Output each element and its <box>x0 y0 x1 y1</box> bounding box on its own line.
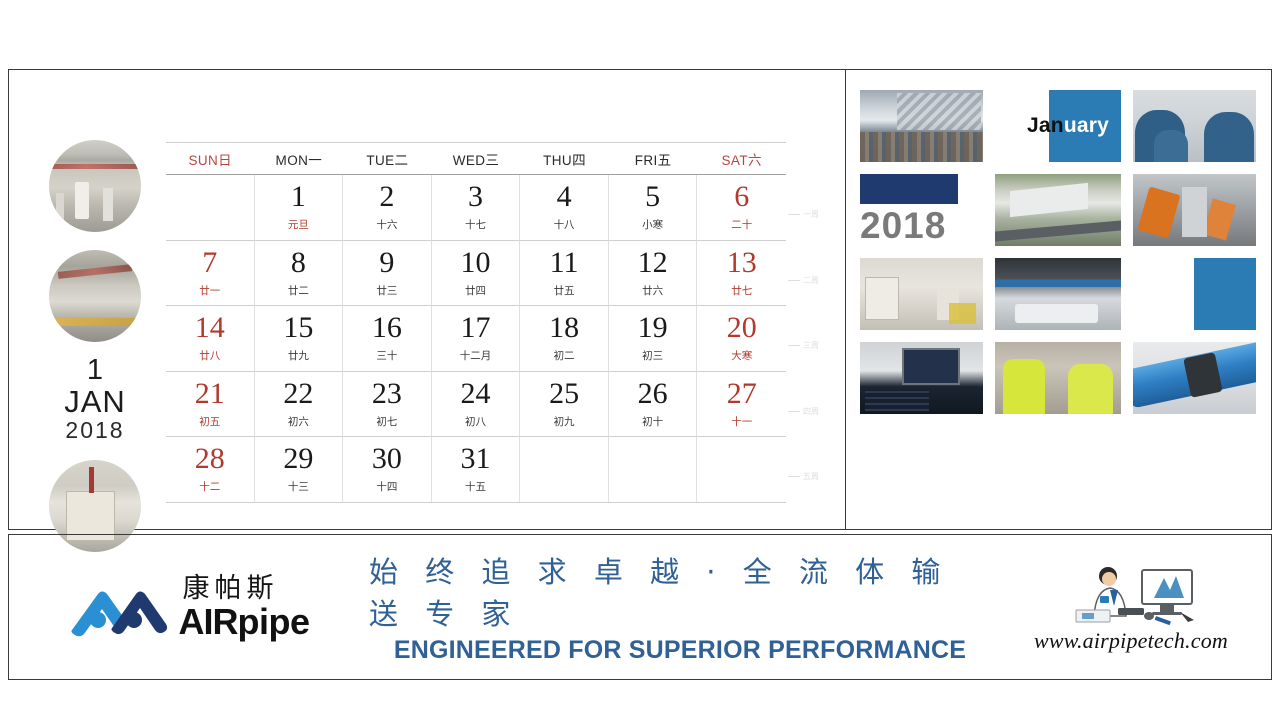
lunar-date-label: 初十 <box>642 414 663 429</box>
day-number: 26 <box>638 379 668 409</box>
calendar-day-cell[interactable]: 7廿一 <box>166 241 255 307</box>
january-label-light: uary <box>1064 114 1109 137</box>
day-number: 21 <box>195 379 225 409</box>
calendar-day-cell[interactable]: 1元旦 <box>255 175 344 241</box>
week-marker-3: 三周 <box>788 340 840 351</box>
calendar-day-cell[interactable]: 29十三 <box>255 437 344 503</box>
calendar-day-cell[interactable]: 30十四 <box>343 437 432 503</box>
day-number: 13 <box>727 248 757 278</box>
day-number: 1 <box>291 182 306 212</box>
month-number: 1 <box>35 356 155 385</box>
brand-name-chinese: 康帕斯 <box>178 575 309 602</box>
calendar-cell-empty <box>609 437 698 503</box>
airpipe-logo-icon <box>68 576 172 638</box>
calendar-day-cell[interactable]: 25初九 <box>520 372 609 438</box>
week-marker-dash-icon <box>788 411 800 412</box>
collage-year-label: 2018 <box>860 207 946 246</box>
slogan-chinese: 始 终 追 求 卓 越 · 全 流 体 输 送 专 家 <box>369 549 991 633</box>
robotic-assembly-photo <box>1133 174 1256 246</box>
calendar-day-cell[interactable]: 22初六 <box>255 372 344 438</box>
calendar-pane: 1 JAN 2018 SUN日MON一TUE二WED三THU四FRI五SAT六 … <box>9 70 846 529</box>
calendar-header-6: SAT六 <box>697 149 786 169</box>
calendar-day-cell[interactable]: 12廿六 <box>609 241 698 307</box>
day-number: 9 <box>379 248 394 278</box>
day-number: 14 <box>195 313 225 343</box>
calendar-header-2: TUE二 <box>343 149 432 169</box>
slogan-english: ENGINEERED FOR SUPERIOR PERFORMANCE <box>394 636 966 665</box>
day-number: 4 <box>557 182 572 212</box>
calendar-day-cell[interactable]: 19初三 <box>609 306 698 372</box>
week-number-markers: 一周二周三周四周五周 <box>788 175 840 515</box>
lunar-date-label: 初三 <box>642 348 663 363</box>
top-frame: 1 JAN 2018 SUN日MON一TUE二WED三THU四FRI五SAT六 … <box>8 69 1272 530</box>
calendar-day-cell[interactable]: 10廿四 <box>432 241 521 307</box>
lunar-date-label: 十一 <box>731 414 752 429</box>
navy-accent-block <box>860 174 958 204</box>
calendar-header-5: FRI五 <box>609 149 698 169</box>
brand-name-pipe: pipe <box>237 601 309 642</box>
lunar-date-label: 十三 <box>288 479 309 494</box>
calendar-day-cell[interactable]: 3十七 <box>432 175 521 241</box>
calendar-page: 1 JAN 2018 SUN日MON一TUE二WED三THU四FRI五SAT六 … <box>0 0 1280 720</box>
blue-accent-tile <box>1133 258 1256 330</box>
calendar-grid: SUN日MON一TUE二WED三THU四FRI五SAT六 1元旦2十六3十七4十… <box>166 142 786 512</box>
calendar-days-body: 1元旦2十六3十七4十八5小寒6二十7廿一8廿二9廿三10廿四11廿五12廿六1… <box>166 175 786 503</box>
lunar-date-label: 廿六 <box>642 283 663 298</box>
week-marker-dash-icon <box>788 476 800 477</box>
cleanroom-piping-photo <box>995 258 1121 330</box>
lunar-date-label: 二十 <box>731 217 752 232</box>
footer-bar: 康帕斯 AIRpipe 始 终 追 求 卓 越 · 全 流 体 输 送 专 家 … <box>8 534 1272 680</box>
photo-collage-pane: January 2018 <box>846 70 1271 529</box>
brand-name-english: AIRpipe <box>178 604 309 640</box>
lunar-date-label: 廿七 <box>731 283 752 298</box>
warehouse-staff-photo <box>995 342 1121 414</box>
website-zone: www.airpipetech.com <box>991 535 1271 679</box>
lunar-date-label: 初八 <box>465 414 486 429</box>
calendar-day-cell[interactable]: 28十二 <box>166 437 255 503</box>
brand-logo-zone: 康帕斯 AIRpipe <box>9 535 369 679</box>
calendar-header-1: MON一 <box>255 149 344 169</box>
week-marker-1: 一周 <box>788 209 840 220</box>
lunar-date-label: 十五 <box>465 479 486 494</box>
calendar-day-cell[interactable]: 18初二 <box>520 306 609 372</box>
day-number: 22 <box>283 379 313 409</box>
lunar-date-label: 十六 <box>376 217 397 232</box>
brand-wordmark: 康帕斯 AIRpipe <box>178 575 309 640</box>
brand-name-air: AIR <box>178 601 237 642</box>
lunar-date-label: 小寒 <box>642 217 663 232</box>
day-number: 19 <box>638 313 668 343</box>
production-line-photo <box>49 250 141 342</box>
lunar-date-label: 廿二 <box>288 283 309 298</box>
calendar-day-cell[interactable]: 24初八 <box>432 372 521 438</box>
calendar-day-cell[interactable]: 17十二月 <box>432 306 521 372</box>
week-marker-label: 三周 <box>803 340 819 351</box>
engineering-cad-photo <box>860 342 983 414</box>
photo-collage: January 2018 <box>860 90 1256 435</box>
lunar-date-label: 初九 <box>554 414 575 429</box>
lunar-date-label: 廿四 <box>465 283 486 298</box>
lunar-date-label: 十二 <box>199 479 220 494</box>
day-number: 10 <box>460 248 490 278</box>
calendar-day-cell[interactable]: 14廿八 <box>166 306 255 372</box>
lunar-date-label: 初五 <box>199 414 220 429</box>
calendar-day-cell[interactable]: 23初七 <box>343 372 432 438</box>
day-number: 15 <box>283 313 313 343</box>
day-number: 5 <box>645 182 660 212</box>
lunar-date-label: 十二月 <box>460 348 492 363</box>
lunar-date-label: 廿八 <box>199 348 220 363</box>
calendar-day-cell[interactable]: 26初十 <box>609 372 698 438</box>
sidebar-year: 2018 <box>35 419 155 442</box>
lunar-date-label: 十四 <box>376 479 397 494</box>
day-number: 29 <box>283 444 313 474</box>
day-number: 24 <box>460 379 490 409</box>
day-number: 6 <box>734 182 749 212</box>
week-marker-dash-icon <box>788 345 800 346</box>
calendar-day-cell[interactable]: 31十五 <box>432 437 521 503</box>
lunar-date-label: 大寒 <box>731 348 752 363</box>
lunar-date-label: 廿一 <box>199 283 220 298</box>
week-marker-dash-icon <box>788 214 800 215</box>
calendar-cell-empty <box>520 437 609 503</box>
calendar-day-cell[interactable]: 4十八 <box>520 175 609 241</box>
week-marker-5: 五周 <box>788 471 840 482</box>
month-abbreviation: JAN <box>35 386 155 417</box>
january-label-dark: Jan <box>1027 114 1064 137</box>
lunar-date-label: 初七 <box>376 414 397 429</box>
team-headquarters-photo <box>860 90 983 162</box>
blue-accent-block <box>1194 258 1256 330</box>
calendar-day-cell[interactable]: 13廿七 <box>697 241 786 307</box>
production-line-image <box>49 250 141 342</box>
lunar-date-label: 廿五 <box>554 283 575 298</box>
day-number: 8 <box>291 248 306 278</box>
calendar-cell-empty <box>697 437 786 503</box>
calendar-day-cell[interactable]: 2十六 <box>343 175 432 241</box>
week-marker-label: 一周 <box>803 209 819 220</box>
day-number: 2 <box>379 182 394 212</box>
calendar-cell-empty <box>166 175 255 241</box>
website-url: www.airpipetech.com <box>1034 628 1228 654</box>
month-label-block: 1 JAN 2018 <box>35 356 155 442</box>
calendar-day-cell[interactable]: 11廿五 <box>520 241 609 307</box>
sidebar-column: 1 JAN 2018 <box>35 132 155 522</box>
day-number: 3 <box>468 182 483 212</box>
lunar-date-label: 廿三 <box>376 283 397 298</box>
calendar-day-cell[interactable]: 6二十 <box>697 175 786 241</box>
factory-aisle-photo <box>49 140 141 232</box>
calendar-day-cell[interactable]: 9廿三 <box>343 241 432 307</box>
calendar-header-4: THU四 <box>520 149 609 169</box>
slogan-zone: 始 终 追 求 卓 越 · 全 流 体 输 送 专 家 ENGINEERED F… <box>369 549 991 665</box>
lunar-date-label: 三十 <box>376 348 397 363</box>
day-number: 11 <box>550 248 579 278</box>
calendar-day-cell[interactable]: 15廿九 <box>255 306 344 372</box>
calendar-day-cell[interactable]: 5小寒 <box>609 175 698 241</box>
lunar-date-label: 初二 <box>554 348 575 363</box>
team-selfie-photo <box>1133 90 1256 162</box>
day-number: 17 <box>460 313 490 343</box>
factory-aisle-image <box>49 140 141 232</box>
week-marker-label: 二周 <box>803 275 819 286</box>
week-marker-2: 二周 <box>788 275 840 286</box>
calendar-day-cell[interactable]: 21初五 <box>166 372 255 438</box>
lunar-date-label: 初六 <box>288 414 309 429</box>
lunar-date-label: 元旦 <box>288 217 309 232</box>
lunar-date-label: 廿九 <box>288 348 309 363</box>
day-number: 16 <box>372 313 402 343</box>
january-label-block: January <box>995 90 1121 162</box>
week-marker-4: 四周 <box>788 406 840 417</box>
plant-interior-photo <box>860 258 983 330</box>
year-label-block: 2018 <box>860 174 983 246</box>
calendar-header-0: SUN日 <box>166 149 255 169</box>
calendar-header-row: SUN日MON一TUE二WED三THU四FRI五SAT六 <box>166 142 786 175</box>
day-number: 27 <box>727 379 757 409</box>
week-marker-label: 四周 <box>803 406 819 417</box>
lunar-date-label: 十七 <box>465 217 486 232</box>
day-number: 28 <box>195 444 225 474</box>
calendar-day-cell[interactable]: 16三十 <box>343 306 432 372</box>
calendar-day-cell[interactable]: 8廿二 <box>255 241 344 307</box>
day-number: 20 <box>727 313 757 343</box>
engineer-at-desk-icon <box>1056 560 1206 626</box>
calendar-day-cell[interactable]: 20大寒 <box>697 306 786 372</box>
day-number: 7 <box>202 248 217 278</box>
january-label: January <box>1027 114 1109 138</box>
day-number: 30 <box>372 444 402 474</box>
blue-pipe-closeup-photo <box>1133 342 1256 414</box>
calendar-header-3: WED三 <box>432 149 521 169</box>
day-number: 18 <box>549 313 579 343</box>
week-marker-label: 五周 <box>803 471 819 482</box>
day-number: 31 <box>460 444 490 474</box>
day-number: 12 <box>638 248 668 278</box>
week-marker-dash-icon <box>788 280 800 281</box>
calendar-day-cell[interactable]: 27十一 <box>697 372 786 438</box>
day-number: 23 <box>372 379 402 409</box>
lunar-date-label: 十八 <box>554 217 575 232</box>
aerial-campus-photo <box>995 174 1121 246</box>
day-number: 25 <box>549 379 579 409</box>
